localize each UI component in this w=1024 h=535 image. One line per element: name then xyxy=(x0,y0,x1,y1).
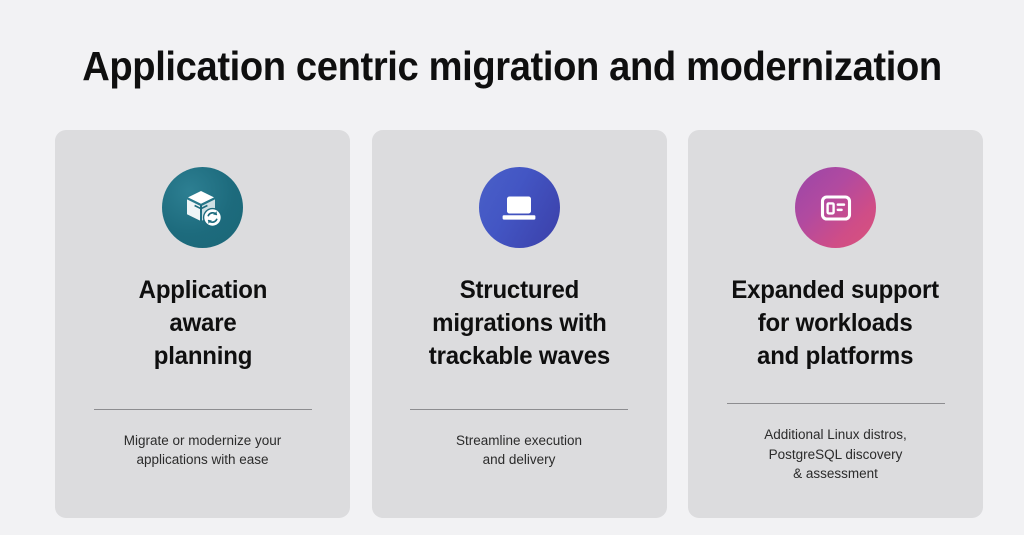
card-heading: Expanded support for workloads and platf… xyxy=(732,274,940,372)
card-divider xyxy=(94,409,312,410)
feature-cards-row: Application aware planning Migrate or mo… xyxy=(55,130,983,518)
laptop-icon xyxy=(479,167,560,248)
card-heading: Structured migrations with trackable wav… xyxy=(428,274,609,372)
feature-card-application-aware-planning[interactable]: Application aware planning Migrate or mo… xyxy=(55,130,350,518)
feature-card-structured-migrations[interactable]: Structured migrations with trackable wav… xyxy=(372,130,667,518)
card-subtitle: Streamline execution and delivery xyxy=(456,431,582,470)
card-heading: Application aware planning xyxy=(138,274,267,372)
app-window-layout-icon xyxy=(795,167,876,248)
page-title: Application centric migration and modern… xyxy=(36,43,988,90)
card-divider xyxy=(410,409,628,410)
card-subtitle: Additional Linux distros, PostgreSQL dis… xyxy=(764,425,907,484)
package-sync-icon xyxy=(162,167,243,248)
card-subtitle: Migrate or modernize your applications w… xyxy=(124,431,282,470)
card-divider xyxy=(727,403,945,404)
feature-card-expanded-support[interactable]: Expanded support for workloads and platf… xyxy=(688,130,983,518)
